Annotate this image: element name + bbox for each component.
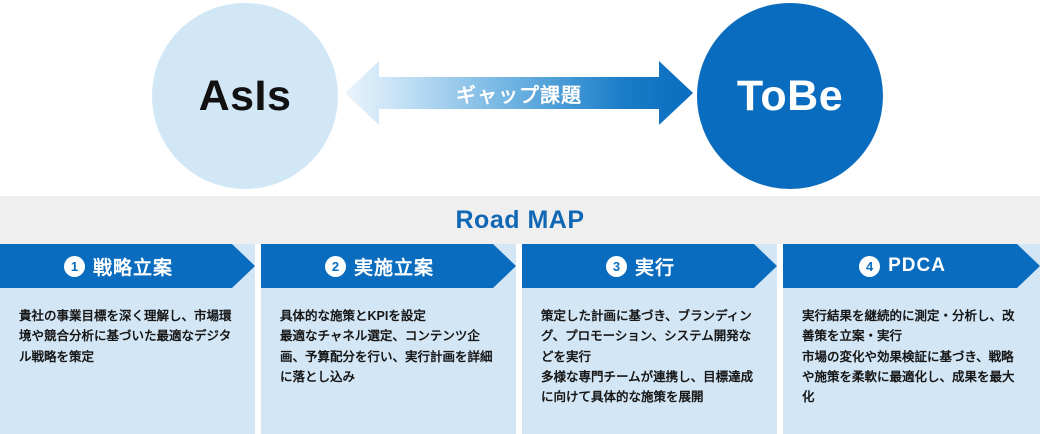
step-description: 貴社の事業目標を深く理解し、市場環境や競合分析に基づいた最適なデジタル戦略を策定 xyxy=(0,288,255,367)
step-banner: 4 PDCA xyxy=(783,244,1040,288)
step-banner: 2 実施立案 xyxy=(261,244,516,288)
step-description-line: 最適なチャネル選定、コンテンツ企画、予算配分を行い、実行計画を詳細に落とし込み xyxy=(280,326,497,387)
roadmap-step: 3 実行 策定した計画に基づき、ブランディング、プロモーション、システム開発など… xyxy=(522,244,777,434)
step-number-badge: 3 xyxy=(606,256,627,277)
step-description: 策定した計画に基づき、ブランディング、プロモーション、システム開発などを実行 多… xyxy=(522,288,777,407)
step-description: 具体的な施策とKPIを設定 最適なチャネル選定、コンテンツ企画、予算配分を行い、… xyxy=(261,288,516,387)
step-description-line: 市場の変化や効果検証に基づき、戦略や施策を柔軟に最適化し、成果を最大化 xyxy=(802,347,1021,408)
step-label: PDCA xyxy=(888,255,946,277)
step-banner: 3 実行 xyxy=(522,244,777,288)
step-label: 戦略立案 xyxy=(93,253,173,280)
to-be-label: ToBe xyxy=(737,72,843,121)
step-description-line: 策定した計画に基づき、ブランディング、プロモーション、システム開発などを実行 xyxy=(541,306,758,367)
gap-arrow: ギャップ課題 xyxy=(345,55,693,131)
step-banner-inner: 4 PDCA xyxy=(783,244,1040,288)
roadmap-title: Road MAP xyxy=(456,206,585,235)
step-number-badge: 1 xyxy=(64,256,85,277)
gap-label: ギャップ課題 xyxy=(456,79,582,108)
step-description-line: 貴社の事業目標を深く理解し、市場環境や競合分析に基づいた最適なデジタル戦略を策定 xyxy=(19,306,236,367)
roadmap-steps: 1 戦略立案 貴社の事業目標を深く理解し、市場環境や競合分析に基づいた最適なデジ… xyxy=(0,244,1040,434)
step-number-badge: 4 xyxy=(859,256,880,277)
gap-arrow-label-wrap: ギャップ課題 xyxy=(345,55,693,131)
roadmap-header: Road MAP xyxy=(0,196,1040,244)
step-banner-inner: 3 実行 xyxy=(522,244,777,288)
as-is-to-be-section: AsIs ギャップ課題 ToBe xyxy=(0,0,1040,196)
step-banner: 1 戦略立案 xyxy=(0,244,255,288)
roadmap-step: 1 戦略立案 貴社の事業目標を深く理解し、市場環境や競合分析に基づいた最適なデジ… xyxy=(0,244,255,434)
step-description: 実行結果を継続的に測定・分析し、改善策を立案・実行 市場の変化や効果検証に基づき… xyxy=(783,288,1040,407)
step-number-badge: 2 xyxy=(325,256,346,277)
to-be-circle: ToBe xyxy=(697,3,883,189)
step-banner-inner: 2 実施立案 xyxy=(261,244,516,288)
as-is-label: AsIs xyxy=(199,72,292,121)
step-description-line: 実行結果を継続的に測定・分析し、改善策を立案・実行 xyxy=(802,306,1021,347)
step-description-line: 具体的な施策とKPIを設定 xyxy=(280,306,497,326)
step-banner-inner: 1 戦略立案 xyxy=(0,244,255,288)
step-label: 実施立案 xyxy=(354,253,434,280)
as-is-circle: AsIs xyxy=(152,3,338,189)
roadmap-step: 2 実施立案 具体的な施策とKPIを設定 最適なチャネル選定、コンテンツ企画、予… xyxy=(261,244,516,434)
roadmap-step: 4 PDCA 実行結果を継続的に測定・分析し、改善策を立案・実行 市場の変化や効… xyxy=(783,244,1040,434)
step-description-line: 多様な専門チームが連携し、目標達成に向けて具体的な施策を展開 xyxy=(541,367,758,408)
roadmap-section: Road MAP 1 戦略立案 貴社の事業目標を深く理解し、市場環境や競合分析に… xyxy=(0,196,1040,434)
step-label: 実行 xyxy=(635,253,675,280)
diagram-root: AsIs ギャップ課題 ToBe xyxy=(0,0,1040,434)
